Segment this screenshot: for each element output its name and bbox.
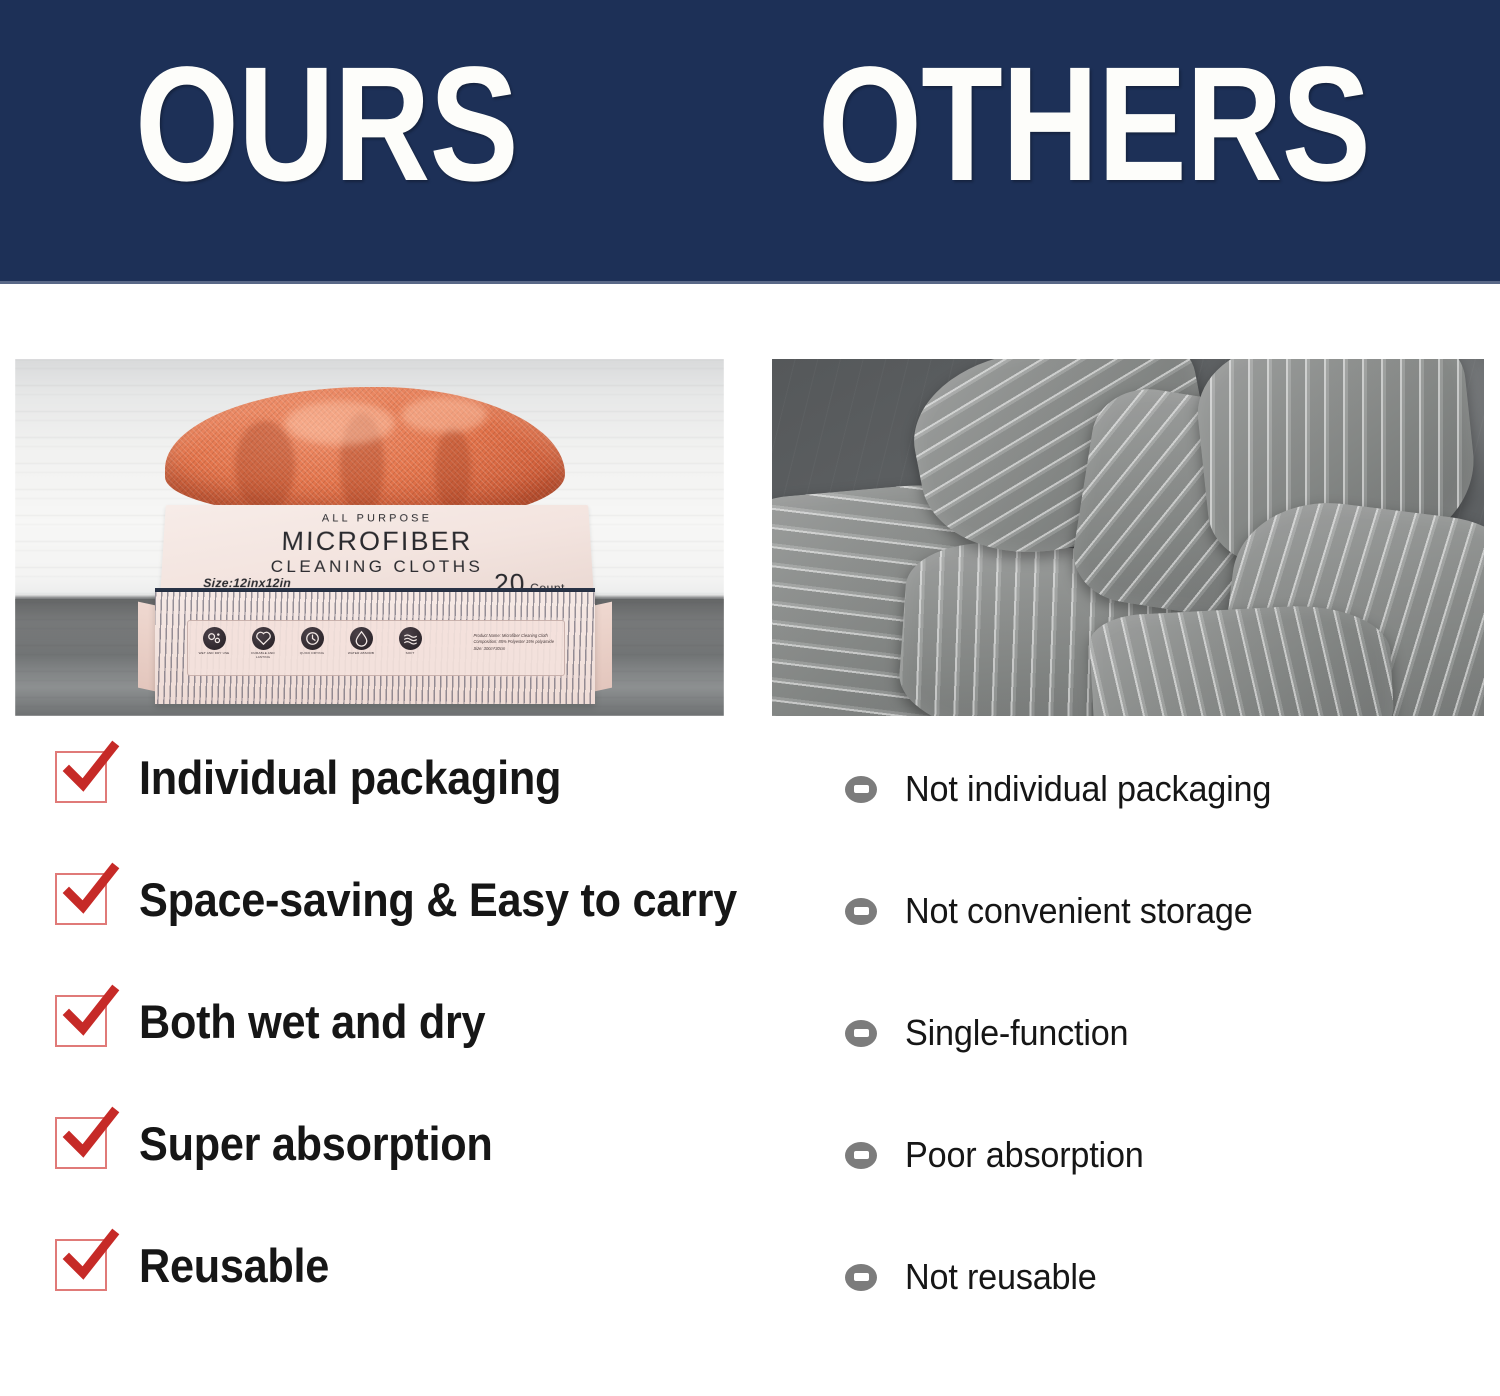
ours-list-item: Both wet and dry xyxy=(55,960,775,1082)
others-list-item-label: Single-function xyxy=(905,1012,1128,1054)
spec-caption: SOFT xyxy=(392,652,428,656)
spec-caption: WATER ABSORB xyxy=(343,652,379,656)
package-spec-icon-row: WET AND DRY USE DURABLE AND LASTING QUIC… xyxy=(196,627,428,660)
cloth-fold xyxy=(435,427,471,513)
others-list-item: Not convenient storage xyxy=(845,850,1445,972)
others-list-item-label: Not convenient storage xyxy=(905,890,1253,932)
others-list-item: Poor absorption xyxy=(845,1094,1445,1216)
ours-list-item-label: Space-saving & Easy to carry xyxy=(139,872,737,927)
minus-icon xyxy=(845,1020,877,1047)
check-icon xyxy=(55,751,107,803)
spec-item-water-absorb: WATER ABSORB xyxy=(343,627,379,660)
ours-list-item: Super absorption xyxy=(55,1082,775,1204)
cloth-highlight xyxy=(285,401,395,445)
others-list-item-label: Not individual packaging xyxy=(905,768,1271,810)
minus-icon xyxy=(845,1142,877,1169)
others-list-item: Not individual packaging xyxy=(845,728,1445,850)
spec-caption: DURABLE AND LASTING xyxy=(245,652,281,660)
page-title-ours: OURS xyxy=(135,42,518,205)
package-spec-size: Size: 30cm*30cm xyxy=(473,646,554,652)
spec-item-quick-drying: QUICK DRYING xyxy=(294,627,330,660)
spec-item-durable: DURABLE AND LASTING xyxy=(245,627,281,660)
water-absorb-icon xyxy=(350,627,373,650)
ours-list-item-label: Reusable xyxy=(139,1238,329,1293)
check-icon xyxy=(55,873,107,925)
check-icon xyxy=(55,1239,107,1291)
package-spec-info: Product Name: Microfiber Cleaning Cloth … xyxy=(473,633,554,652)
product-package: ALL PURPOSE MICROFIBER CLEANING CLOTHS S… xyxy=(155,504,595,704)
check-icon xyxy=(55,1117,107,1169)
header-band: OURS OTHERS xyxy=(0,0,1500,284)
others-product-photo xyxy=(772,359,1484,716)
cloth-highlight xyxy=(401,397,487,433)
ours-list-item-label: Super absorption xyxy=(139,1116,493,1171)
package-spec-panel: WET AND DRY USE DURABLE AND LASTING QUIC… xyxy=(187,620,565,676)
coral-microfiber-cloth xyxy=(165,387,565,522)
package-composition: Composition: 85% Polyester 15% polyamide xyxy=(473,639,554,645)
durable-icon xyxy=(252,627,275,650)
wet-and-dry-use-icon xyxy=(203,627,226,650)
spec-item-soft: SOFT xyxy=(392,627,428,660)
others-list-item-label: Poor absorption xyxy=(905,1134,1144,1176)
spec-caption: QUICK DRYING xyxy=(294,652,330,656)
ours-list-item-label: Individual packaging xyxy=(139,750,561,805)
ours-list-item: Space-saving & Easy to carry xyxy=(55,838,775,960)
package-top-face: ALL PURPOSE MICROFIBER CLEANING CLOTHS S… xyxy=(160,505,594,596)
page-title-others: OTHERS xyxy=(818,42,1370,205)
others-feature-list: Not individual packaging Not convenient … xyxy=(845,728,1445,1338)
check-icon xyxy=(55,995,107,1047)
minus-icon xyxy=(845,898,877,925)
minus-icon xyxy=(845,1264,877,1291)
ours-list-item: Reusable xyxy=(55,1204,775,1326)
quick-drying-icon xyxy=(301,627,324,650)
others-list-item: Not reusable xyxy=(845,1216,1445,1338)
spec-caption: WET AND DRY USE xyxy=(196,652,232,656)
package-front-face: WET AND DRY USE DURABLE AND LASTING QUIC… xyxy=(155,592,595,704)
ours-list-item: Individual packaging xyxy=(55,716,775,838)
cloth-fold xyxy=(235,421,295,511)
minus-icon xyxy=(845,776,877,803)
soft-icon xyxy=(399,627,422,650)
ours-product-photo: ALL PURPOSE MICROFIBER CLEANING CLOTHS S… xyxy=(15,359,724,716)
others-list-item-label: Not reusable xyxy=(905,1256,1097,1298)
ours-feature-list: Individual packaging Space-saving & Easy… xyxy=(55,716,775,1326)
package-brand-text: MICROFIBER xyxy=(163,526,592,557)
towel xyxy=(1088,601,1395,716)
others-list-item: Single-function xyxy=(845,972,1445,1094)
spec-item-wet-and-dry: WET AND DRY USE xyxy=(196,627,232,660)
package-all-purpose-text: ALL PURPOSE xyxy=(165,513,590,525)
ours-list-item-label: Both wet and dry xyxy=(139,994,485,1049)
